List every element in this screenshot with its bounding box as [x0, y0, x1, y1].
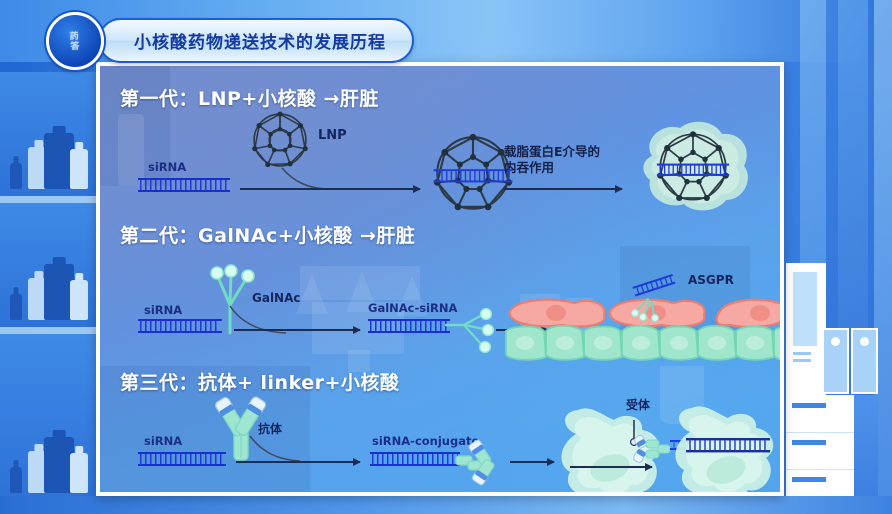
hepatocyte-blob-svg [636, 116, 756, 216]
bench-side-block [854, 395, 878, 500]
sirna-strand-bottom [138, 190, 230, 192]
page-title: 小核酸药物递送技术的发展历程 [134, 28, 386, 53]
row-generation-1-lnp-label: LNP [318, 128, 347, 143]
lnp-cage-icon [244, 104, 316, 176]
lab-shelf-unit-2 [0, 203, 96, 327]
shelf-bottle [10, 467, 22, 493]
row-generation-3-arrow-2 [510, 461, 554, 463]
row-generation-3-antibody-label: 抗体 [258, 420, 282, 437]
row-generation-3-receptor-label: 受体 [626, 396, 650, 413]
row-generation-2-conjugate-label: GalNAc-siRNA [368, 301, 457, 315]
shelf-plate [0, 327, 96, 334]
bench-drawer-handle [792, 403, 826, 408]
shelf-bottle [70, 149, 88, 189]
sirna-duplex-icon [138, 178, 230, 192]
galnac-curve-icon [228, 306, 290, 336]
row-generation-3-title: 第三代：抗体+ linker+小核酸 [120, 368, 399, 395]
hepatocyte-blob-icon [636, 116, 756, 216]
bench-handle [793, 352, 811, 355]
bench-drawer-line [786, 432, 854, 433]
row-generation-2-arrow-1 [234, 329, 360, 331]
internalized-cell-blob-svg [666, 404, 784, 496]
bench-drawer-handle [792, 440, 826, 445]
row-generation-1-arrow-2 [504, 188, 622, 190]
internalized-cell-blob-icon [666, 404, 784, 496]
bench-drawer-line [786, 469, 854, 470]
background-bottom-strip [0, 496, 892, 514]
lab-shelf-unit-3 [0, 334, 96, 500]
row-generation-2-sirna-label: siRNA [144, 303, 182, 317]
page-title-pill: 小核酸药物递送技术的发展历程 [98, 18, 414, 63]
sirna-strand-bottom [368, 331, 450, 333]
sirna-antibody-conjugate-icon [370, 452, 460, 466]
bench-door-knob [831, 337, 840, 346]
galnac-curve-svg [228, 306, 290, 336]
shelf-plate [0, 196, 96, 203]
row-generation-1-sirna-label: siRNA [148, 160, 186, 174]
shelf-bottle [70, 280, 88, 320]
row-generation-2-galnac-label: GalNAc [252, 291, 301, 305]
shelf-bottle [10, 294, 22, 320]
brand-logo-text: 药 答 [70, 31, 80, 52]
row-generation-1-arrow-1 [240, 188, 420, 190]
antibody-curve-icon [246, 436, 302, 464]
lab-shelf-unit-1 [0, 72, 96, 196]
bench-drawer-handle [792, 477, 826, 482]
row-generation-3-sirna-label: siRNA [144, 434, 182, 448]
row-generation-2: 第二代：GalNAc+小核酸 →肝脏 siRNA [100, 211, 784, 351]
brand-logo-icon[interactable]: 药 答 [46, 12, 104, 70]
row-generation-1: 第一代：LNP+小核酸 →肝脏 siRNA [100, 66, 784, 206]
lnp-cage-svg [244, 104, 316, 176]
conjugate-antibody-arm-svg [456, 442, 512, 492]
row-generation-3-arrow-1 [236, 461, 360, 463]
sirna-base-pairs [140, 180, 228, 190]
encapsulated-sirna-icon [434, 169, 513, 182]
row-generation-2-title: 第二代：GalNAc+小核酸 →肝脏 [120, 221, 415, 248]
shelf-bottle [10, 163, 22, 189]
bench-handle [793, 359, 811, 362]
row-generation-3-arrow-3 [570, 466, 652, 468]
bench-cabinet-inner [793, 272, 817, 346]
infographic-canvas: 药 答 小核酸药物递送技术的发展历程 第一代：LNP+小核酸 →肝脏 [0, 0, 892, 514]
row-generation-3: 第三代：抗体+ linker+小核酸 siRNA [100, 354, 784, 496]
sirna-base-pairs [372, 454, 458, 464]
shelf-bottle [70, 453, 88, 493]
sirna-base-pairs [370, 321, 448, 331]
antibody-curve-svg [246, 436, 302, 464]
bench-door-knob [860, 337, 869, 346]
galnac-sirna-conjugate-icon [368, 319, 450, 333]
main-diagram-panel: 第一代：LNP+小核酸 →肝脏 siRNA [96, 62, 784, 496]
sirna-strand-bottom [370, 464, 460, 466]
conjugate-antibody-arm-icon [456, 442, 512, 492]
row-generation-1-process-caption: 载脂蛋白E介导的 内吞作用 [504, 144, 600, 176]
bench-drawers [786, 395, 854, 500]
row-generation-2-asgpr-label: ASGPR [688, 273, 734, 287]
